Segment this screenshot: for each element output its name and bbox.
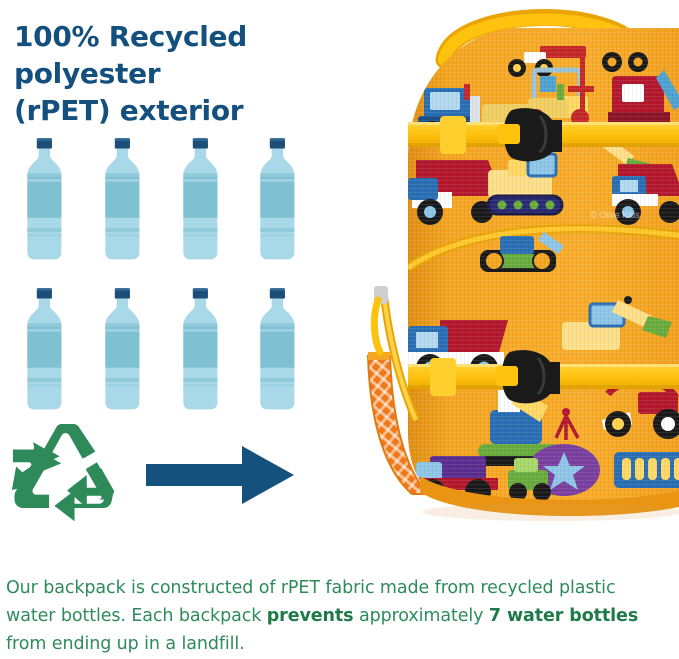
water-bottle-icon [16,132,73,268]
caption-bold-prevents: prevents [267,606,354,626]
water-bottle-icon [249,132,306,268]
water-bottle-icon [172,282,229,418]
water-bottle-grid [16,132,306,417]
backpack-watermark: © Olive Kids [590,210,640,220]
caption-text: Our backpack is constructed of rPET fabr… [6,574,668,659]
water-bottle-icon [94,282,151,418]
caption-part-3: from ending up in a landfill. [6,634,245,654]
arrow-right-icon [144,440,296,510]
recycle-symbol-icon [10,424,120,526]
water-bottle-icon [94,132,151,268]
caption-part-2: approximately [353,606,488,626]
caption-bold-seven-bottles: 7 water bottles [489,606,638,626]
water-bottle-icon [172,132,229,268]
backpack-product-image: © Olive Kids [312,0,679,535]
water-bottle-icon [249,282,306,418]
water-bottle-icon [16,282,73,418]
